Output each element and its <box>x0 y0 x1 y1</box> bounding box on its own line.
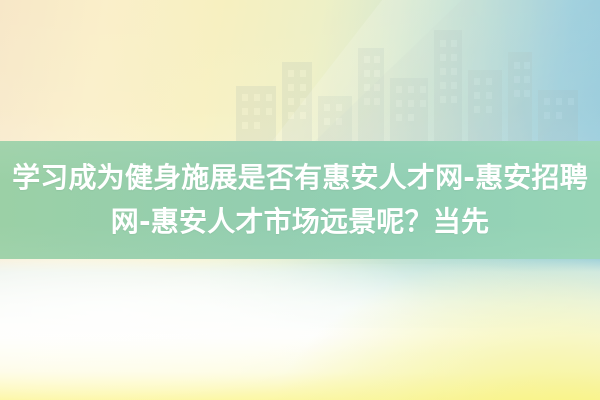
banner-headline: 学习成为健身施展是否有惠安人才网-惠安招聘网-惠安人才市场远景呢？当先 <box>7 156 593 244</box>
banner-image: 学习成为健身施展是否有惠安人才网-惠安招聘网-惠安人才市场远景呢？当先 <box>0 0 600 400</box>
title-band: 学习成为健身施展是否有惠安人才网-惠安招聘网-惠安人才市场远景呢？当先 <box>0 141 600 259</box>
